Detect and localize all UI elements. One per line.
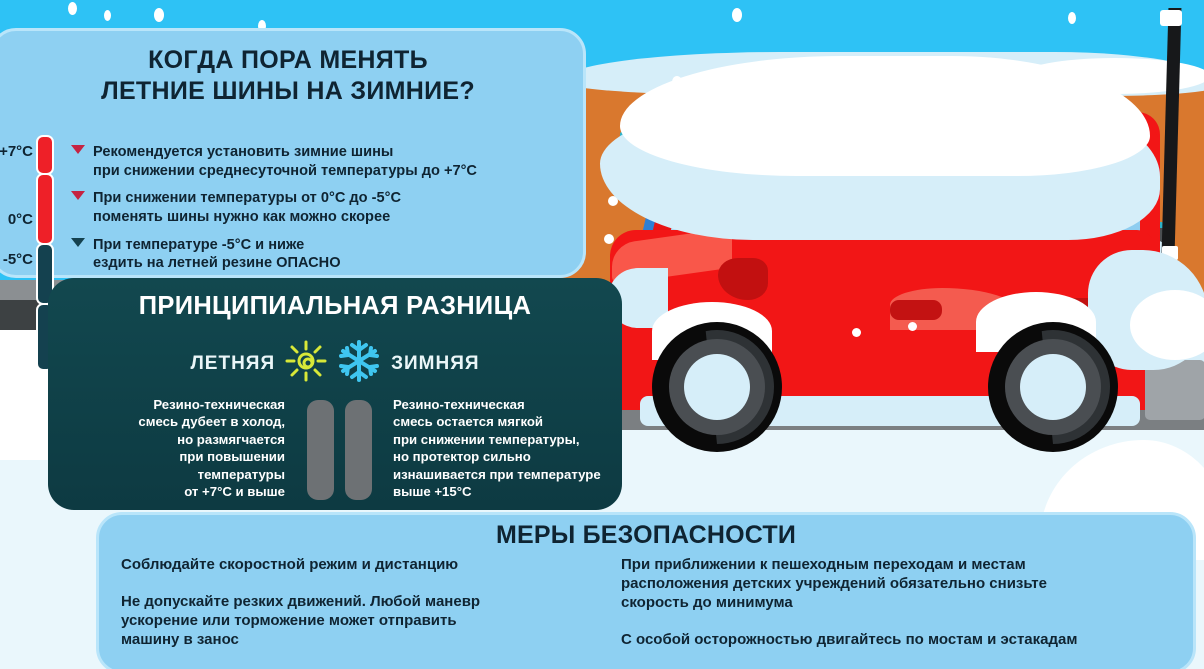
snowflake-dot (154, 8, 164, 22)
summer-tyre-description: Резино-техническая смесь дубеет в холод,… (48, 396, 293, 501)
winter-tyre-description: Резино-техническая смесь остается мягкой… (385, 396, 622, 501)
panel-safety-measures: МЕРЫ БЕЗОПАСНОСТИ Соблюдайте скоростной … (96, 512, 1196, 669)
thermometer-segment-warm (36, 173, 54, 245)
marker-triangle-red-icon (71, 191, 87, 200)
tyre-illustration-pair (293, 396, 385, 500)
infographic-canvas: КОГДА ПОРА МЕНЯТЬ ЛЕТНИЕ ШИНЫ НА ЗИМНИЕ?… (0, 0, 1204, 669)
winter-label: ЗИМНЯЯ (391, 353, 479, 375)
thermometer-label-plus7: +7°C (0, 143, 33, 160)
panel-title-line-1: КОГДА ПОРА МЕНЯТЬ (0, 45, 583, 76)
panel-difference-title: ПРИНЦИПИАЛЬНАЯ РАЗНИЦА (48, 292, 622, 321)
snowflake-dot (104, 10, 111, 21)
thermometer-segment-warm-top (36, 135, 54, 175)
safety-columns: Соблюдайте скоростной режим и дистанцию … (99, 550, 1193, 668)
snowflake-dot (68, 2, 77, 15)
car-wheel-front (652, 322, 782, 452)
summer-label: ЛЕТНЯЯ (190, 353, 275, 375)
snow-covered-car (590, 60, 1204, 480)
recommendation-text: При снижении температуры от 0°C до -5°C … (93, 189, 401, 226)
safety-item: При приближении к пешеходным переходам и… (621, 556, 1171, 613)
safety-column-left: Соблюдайте скоростной режим и дистанцию … (121, 556, 621, 668)
safety-item: С особой осторожностью двигайтесь по мос… (621, 631, 1171, 650)
recommendation-text: Рекомендуется установить зимние шины при… (93, 143, 477, 180)
snowflake-dot (1068, 12, 1076, 24)
panel-principal-difference: ПРИНЦИПИАЛЬНАЯ РАЗНИЦА ЛЕТНЯЯ (48, 278, 622, 510)
safety-item: Не допускайте резких движений. Любой ман… (121, 593, 621, 650)
panel-title-line-2: ЛЕТНИЕ ШИНЫ НА ЗИМНИЕ? (0, 76, 583, 107)
car-wheel-rear (988, 322, 1118, 452)
tyre-change-recommendation-list: Рекомендуется установить зимние шины при… (71, 143, 573, 282)
thermometer (36, 135, 54, 315)
safety-item: Соблюдайте скоростной режим и дистанцию (121, 556, 621, 575)
lamp-post-snow-cap (1160, 10, 1182, 26)
recommendation-row: Рекомендуется установить зимние шины при… (71, 143, 573, 180)
recommendation-text: При температуре -5°C и ниже ездить на ле… (93, 236, 341, 273)
panel-when-to-change-title: КОГДА ПОРА МЕНЯТЬ ЛЕТНИЕ ШИНЫ НА ЗИМНИЕ? (0, 45, 583, 106)
panel-when-to-change-tyres: КОГДА ПОРА МЕНЯТЬ ЛЕТНИЕ ШИНЫ НА ЗИМНИЕ?… (0, 28, 586, 278)
recommendation-row: При температуре -5°C и ниже ездить на ле… (71, 236, 573, 273)
tyre-shape-winter (345, 400, 372, 500)
snowflake-icon (337, 339, 381, 388)
season-icons-row: ЛЕТНЯЯ (48, 339, 622, 388)
marker-triangle-green-icon (71, 238, 87, 247)
recommendation-row: При снижении температуры от 0°C до -5°C … (71, 189, 573, 226)
safety-column-right: При приближении к пешеходным переходам и… (621, 556, 1171, 668)
panel-safety-title: МЕРЫ БЕЗОПАСНОСТИ (99, 521, 1193, 550)
car-door-handle (890, 300, 942, 320)
snowflake-dot (732, 8, 742, 22)
thermometer-label-minus5: -5°C (0, 251, 33, 268)
tyre-shape-summer (307, 400, 334, 500)
sun-icon (285, 340, 327, 387)
difference-comparison-columns: Резино-техническая смесь дубеет в холод,… (48, 396, 622, 501)
thermometer-label-zero: 0°C (0, 211, 33, 228)
marker-triangle-red-icon (71, 145, 87, 154)
